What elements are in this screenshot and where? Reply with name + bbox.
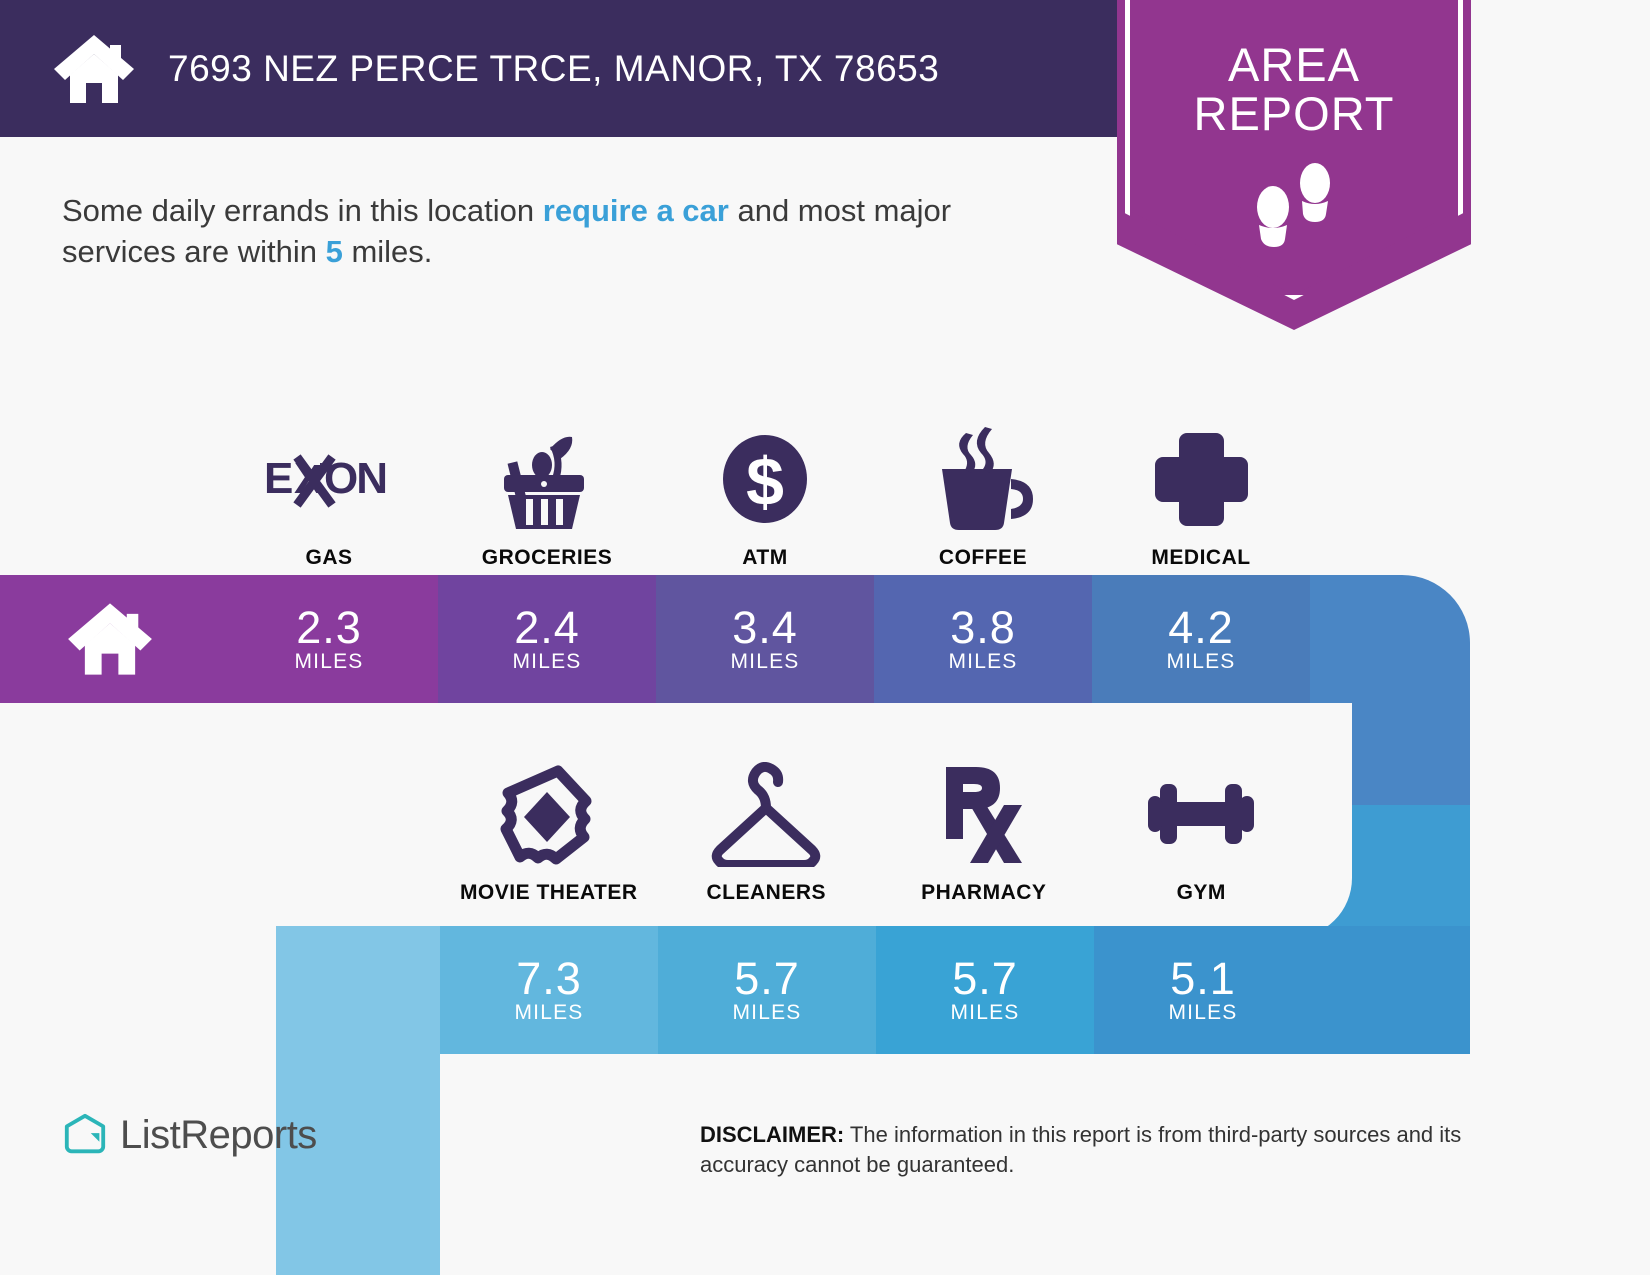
intro-highlight-miles: 5 bbox=[326, 234, 343, 269]
distance-value: 3.8 bbox=[950, 604, 1016, 652]
amenity-groceries-label: GROCERIES bbox=[482, 546, 613, 570]
amenity-gas: E X ON GAS bbox=[220, 410, 438, 570]
clothes-hanger-icon bbox=[706, 759, 826, 869]
distance-unit: MILES bbox=[512, 650, 581, 674]
distance-value: 7.3 bbox=[516, 955, 582, 1003]
listreports-logo[interactable]: ListReports bbox=[62, 1112, 317, 1158]
grocery-basket-icon bbox=[492, 424, 602, 534]
page-title: 7693 NEZ PERCE TRCE, MANOR, TX 78653 bbox=[168, 48, 939, 90]
amenity-coffee-label: COFFEE bbox=[939, 546, 1027, 570]
disclaimer: DISCLAIMER: The information in this repo… bbox=[700, 1120, 1510, 1180]
distance-cell-gym: 5.1 MILES bbox=[1094, 926, 1312, 1054]
badge-title: AREA REPORT bbox=[1117, 40, 1471, 138]
distance-value: 5.1 bbox=[1170, 955, 1236, 1003]
amenity-cleaners-label: CLEANERS bbox=[706, 881, 826, 905]
distance-cell-atm: 3.4 MILES bbox=[656, 575, 874, 703]
distance-unit: MILES bbox=[294, 650, 363, 674]
svg-text:E: E bbox=[264, 454, 292, 503]
distance-cell-medical: 4.2 MILES bbox=[1092, 575, 1310, 703]
distance-band-row-2: 7.3 MILES 5.7 MILES 5.7 MILES 5.1 MILES bbox=[276, 926, 1470, 1054]
dollar-circle-icon: $ bbox=[715, 424, 815, 534]
intro-text: Some daily errands in this location requ… bbox=[62, 190, 1072, 272]
amenity-atm: $ ATM bbox=[656, 410, 874, 570]
amenity-groceries: GROCERIES bbox=[438, 410, 656, 570]
home-icon bbox=[52, 33, 136, 105]
exxon-logo-icon: E X ON bbox=[264, 424, 394, 534]
amenity-movie-theater: MOVIE THEATER bbox=[440, 745, 658, 905]
amenity-gym-label: GYM bbox=[1177, 881, 1226, 905]
distance-unit: MILES bbox=[732, 1001, 801, 1025]
amenity-cleaners: CLEANERS bbox=[658, 745, 876, 905]
badge-title-line1: AREA bbox=[1117, 40, 1471, 89]
distance-unit: MILES bbox=[948, 650, 1017, 674]
distance-unit: MILES bbox=[730, 650, 799, 674]
distance-value: 3.4 bbox=[732, 604, 798, 652]
disclaimer-label: DISCLAIMER: bbox=[700, 1122, 844, 1147]
movie-ticket-icon bbox=[496, 759, 601, 869]
amenity-gym: GYM bbox=[1093, 745, 1311, 905]
badge-title-line2: REPORT bbox=[1117, 89, 1471, 138]
track-tail-cell bbox=[1312, 926, 1470, 1054]
distance-cell-coffee: 3.8 MILES bbox=[874, 575, 1092, 703]
distance-unit: MILES bbox=[1168, 1001, 1237, 1025]
dumbbell-icon bbox=[1136, 759, 1266, 869]
area-report-badge: AREA REPORT bbox=[1117, 0, 1471, 330]
svg-text:$: $ bbox=[746, 444, 784, 520]
amenity-icon-row-1: E X ON GAS bbox=[220, 410, 1310, 570]
home-start-cell bbox=[0, 575, 220, 703]
distance-band-row-1: 2.3 MILES 2.4 MILES 3.4 MILES 3.8 MILES … bbox=[0, 575, 1470, 703]
distance-cell-gas: 2.3 MILES bbox=[220, 575, 438, 703]
track-lead-cell bbox=[276, 926, 440, 1054]
amenity-icon-row-2: MOVIE THEATER CLEANERS PHARM bbox=[440, 745, 1310, 905]
amenity-coffee: COFFEE bbox=[874, 410, 1092, 570]
distance-value: 5.7 bbox=[734, 955, 800, 1003]
distance-cell-groceries: 2.4 MILES bbox=[438, 575, 656, 703]
amenity-movie-theater-label: MOVIE THEATER bbox=[460, 881, 638, 905]
intro-part1: Some daily errands in this location bbox=[62, 193, 543, 228]
home-icon bbox=[66, 601, 154, 677]
listreports-wordmark: ListReports bbox=[120, 1113, 317, 1158]
distance-cell-cleaners: 5.7 MILES bbox=[658, 926, 876, 1054]
intro-part3: miles. bbox=[343, 234, 433, 269]
amenity-medical-label: MEDICAL bbox=[1151, 546, 1250, 570]
track-gap-left bbox=[0, 926, 276, 1275]
distance-value: 4.2 bbox=[1168, 604, 1234, 652]
medical-cross-icon bbox=[1149, 424, 1254, 534]
intro-highlight-car: require a car bbox=[543, 193, 729, 228]
listreports-house-icon bbox=[62, 1112, 108, 1158]
distance-unit: MILES bbox=[950, 1001, 1019, 1025]
distance-value: 2.4 bbox=[514, 604, 580, 652]
amenity-pharmacy: PHARMACY bbox=[875, 745, 1093, 905]
amenity-atm-label: ATM bbox=[742, 546, 787, 570]
distance-cell-movie-theater: 7.3 MILES bbox=[440, 926, 658, 1054]
amenity-pharmacy-label: PHARMACY bbox=[921, 881, 1046, 905]
header-bar: 7693 NEZ PERCE TRCE, MANOR, TX 78653 bbox=[0, 0, 1120, 137]
rx-icon bbox=[934, 759, 1034, 869]
distance-unit: MILES bbox=[1166, 650, 1235, 674]
amenity-gas-label: GAS bbox=[305, 546, 352, 570]
amenity-medical: MEDICAL bbox=[1092, 410, 1310, 570]
distance-value: 2.3 bbox=[296, 604, 362, 652]
distance-unit: MILES bbox=[514, 1001, 583, 1025]
footprints-icon bbox=[1249, 155, 1339, 250]
distance-value: 5.7 bbox=[952, 955, 1018, 1003]
coffee-cup-icon bbox=[926, 424, 1041, 534]
distance-cell-pharmacy: 5.7 MILES bbox=[876, 926, 1094, 1054]
